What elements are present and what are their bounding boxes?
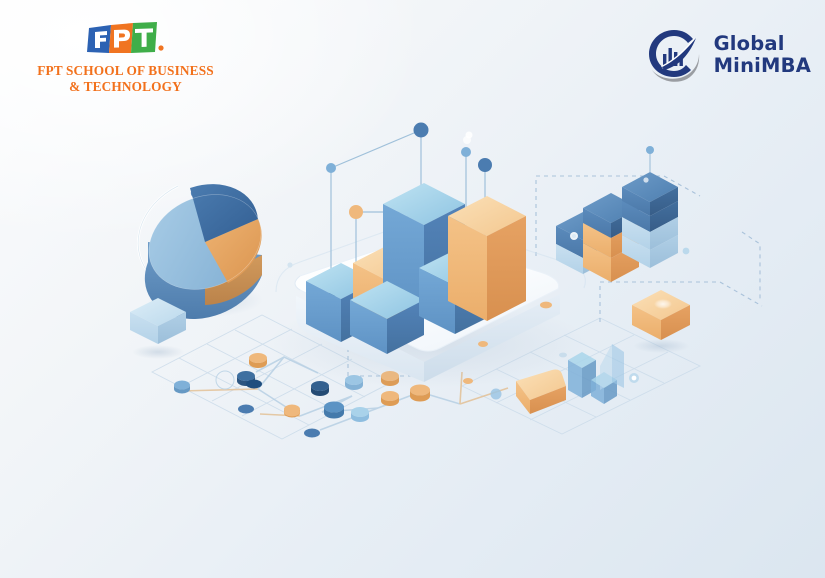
bar-4 [350,281,424,354]
floating-cube-blue [130,298,186,359]
pin-glow [476,213,494,231]
pin-dot-white [481,218,490,227]
bar-5 [419,250,491,334]
illustration-page: FPT SCHOOL OF BUSINESS & TECHNOLOGY Glob… [0,0,825,578]
mini-chart-bottom-right [491,344,640,414]
node-network-links [180,357,508,430]
bar-3 [383,183,465,318]
node-marker [410,385,430,402]
pin-dot-blue [326,163,336,173]
background-grid-left [152,315,392,439]
node-marker [381,391,399,406]
pin-dot-navy [414,123,429,138]
node-marker [246,380,262,389]
node-marker [284,408,300,417]
bar-2 [353,245,423,322]
node-marker [284,405,300,418]
node-marker [174,381,190,394]
stack-cube-c [622,146,678,268]
pin-connectors [331,130,485,310]
node-marker [345,375,363,390]
fpt-school-text: FPT SCHOOL OF BUSINESS & TECHNOLOGY [18,63,233,94]
node-marker [381,371,399,386]
node-marker [237,371,255,386]
stack-cube-b [583,193,639,282]
pin-dot-orange [349,205,363,219]
pin-dot-dark [482,308,491,317]
isometric-platform [268,219,588,388]
node-marker [324,402,344,419]
node-marker [249,353,267,368]
pin-dot-dark [327,293,336,302]
fpt-brand-block: FPT SCHOOL OF BUSINESS & TECHNOLOGY [18,22,233,94]
node-marker [351,407,369,422]
bar-1 [306,263,376,342]
global-minimba-circle-chart-icon [643,26,705,84]
node-marker [238,405,254,414]
stack-cube-a [556,212,610,274]
fpt-logo-icon [83,22,169,56]
spark-dot [463,136,471,144]
floating-cube-orange [632,290,690,353]
pin-dot-navy [478,158,492,172]
isometric-pie-chart [134,177,277,319]
node-marker [311,381,329,396]
node-network-nodes [174,353,430,438]
background-grid-right [462,318,700,434]
pin-dot-blue [461,147,471,157]
dashed-guide-lines [348,176,762,376]
node-marker [304,429,320,438]
global-minimba-brand-block: Global MiniMBA [643,26,811,84]
decorative-dots [216,132,689,390]
pin-dots [326,123,494,317]
global-minimba-text: Global MiniMBA [714,33,811,77]
bar-6 [448,196,526,321]
